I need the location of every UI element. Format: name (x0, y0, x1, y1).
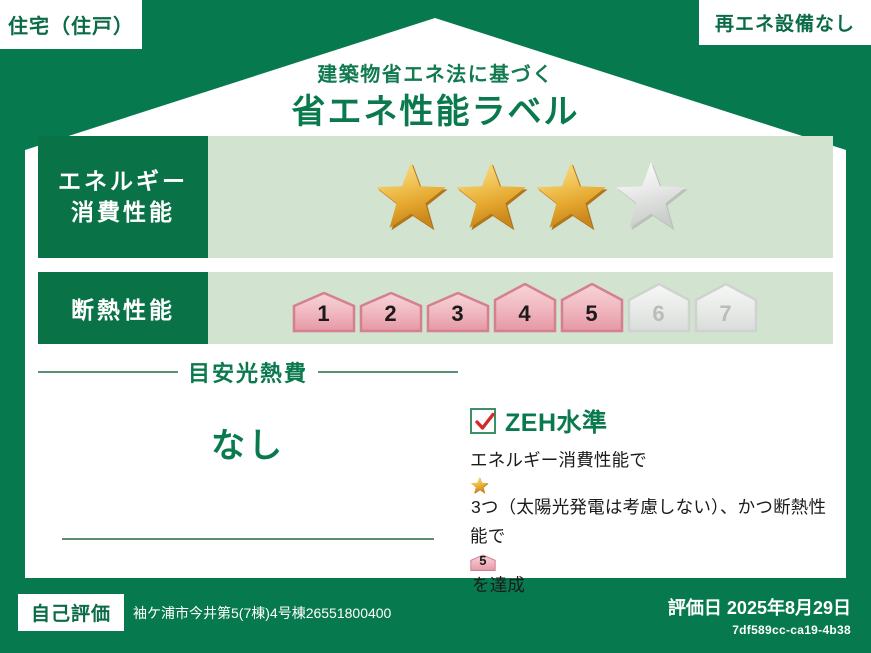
heading-rule-left (38, 371, 178, 373)
property-address: 袖ケ浦市今井第5(7棟)4号棟26551800400 (133, 603, 391, 623)
grade-number: 4 (493, 301, 557, 327)
grade-number: 5 (470, 552, 496, 571)
zeh-desc-part3: を達成 (472, 575, 525, 595)
grade-number: 5 (560, 301, 624, 327)
label-subtitle: 建築物省エネ法に基づく (0, 58, 871, 87)
insulation-performance-label: 断熱性能 (38, 272, 208, 344)
check-icon (474, 411, 496, 433)
zeh-section: ZEH水準 エネルギー消費性能で3つ（太陽光発電は考慮しない）、かつ断熱性能で5… (470, 403, 835, 603)
grade-number: 7 (694, 301, 758, 327)
inline-grade-badge: 5 (470, 553, 835, 573)
energy-performance-row: エネルギー 消費性能 (38, 136, 833, 258)
footer-right: 評価日 2025年8月29日 7df589cc-ca19-4b38 (668, 594, 851, 637)
energy-cost-bottom-rule (62, 538, 434, 540)
inline-star-icon (470, 476, 835, 495)
energy-cost-value: なし (38, 418, 458, 467)
insulation-grade-2: 2 (359, 292, 423, 333)
insulation-grade-6: 6 (627, 283, 691, 333)
energy-performance-label-line2: 消費性能 (71, 197, 175, 228)
zeh-description: エネルギー消費性能で3つ（太陽光発電は考慮しない）、かつ断熱性能で5を達成 (470, 448, 835, 603)
insulation-grade-3: 3 (426, 292, 490, 333)
zeh-heading: ZEH水準 (470, 403, 835, 439)
insulation-grade-1: 1 (292, 292, 356, 333)
star-filled-icon (373, 159, 449, 235)
zeh-checkbox[interactable] (470, 408, 496, 434)
insulation-grade-scale: 1234567 (292, 283, 758, 333)
grade-number: 6 (627, 301, 691, 327)
insulation-grade-4: 4 (493, 283, 557, 333)
grade-number: 1 (292, 301, 356, 327)
zeh-desc-part2: 3つ（太陽光発電は考慮しない）、かつ断熱性能で (470, 497, 826, 545)
star-rating (373, 159, 689, 235)
label-title: 省エネ性能ラベル (0, 84, 871, 133)
star-empty-icon (613, 159, 689, 235)
zeh-title: ZEH水準 (505, 403, 608, 439)
self-evaluation-badge: 自己評価 (18, 594, 124, 631)
star-filled-icon (470, 476, 489, 495)
star-filled-icon (533, 159, 609, 235)
evaluation-date: 評価日 2025年8月29日 (668, 594, 851, 620)
energy-performance-value (208, 136, 833, 258)
insulation-grade-5: 5 (470, 553, 496, 573)
energy-cost-heading-text: 目安光熱費 (188, 356, 308, 388)
star-filled-icon (453, 159, 529, 235)
evaluation-id: 7df589cc-ca19-4b38 (668, 623, 851, 637)
insulation-performance-value: 1234567 (208, 272, 833, 344)
footer-left: 自己評価 袖ケ浦市今井第5(7棟)4号棟26551800400 (18, 594, 391, 631)
energy-performance-label-line1: エネルギー (58, 166, 188, 197)
building-type-tag: 住宅（住戸） (0, 0, 145, 52)
renewable-energy-tag: 再エネ設備なし (696, 0, 871, 48)
grade-number: 2 (359, 301, 423, 327)
grade-number: 3 (426, 301, 490, 327)
energy-performance-label: エネルギー 消費性能 (38, 136, 208, 258)
insulation-grade-5: 5 (560, 283, 624, 333)
insulation-performance-row: 断熱性能 1234567 (38, 272, 833, 344)
zeh-desc-part1: エネルギー消費性能で (470, 450, 647, 470)
heading-rule-right (318, 371, 458, 373)
energy-cost-heading: 目安光熱費 (38, 358, 458, 386)
insulation-grade-7: 7 (694, 283, 758, 333)
